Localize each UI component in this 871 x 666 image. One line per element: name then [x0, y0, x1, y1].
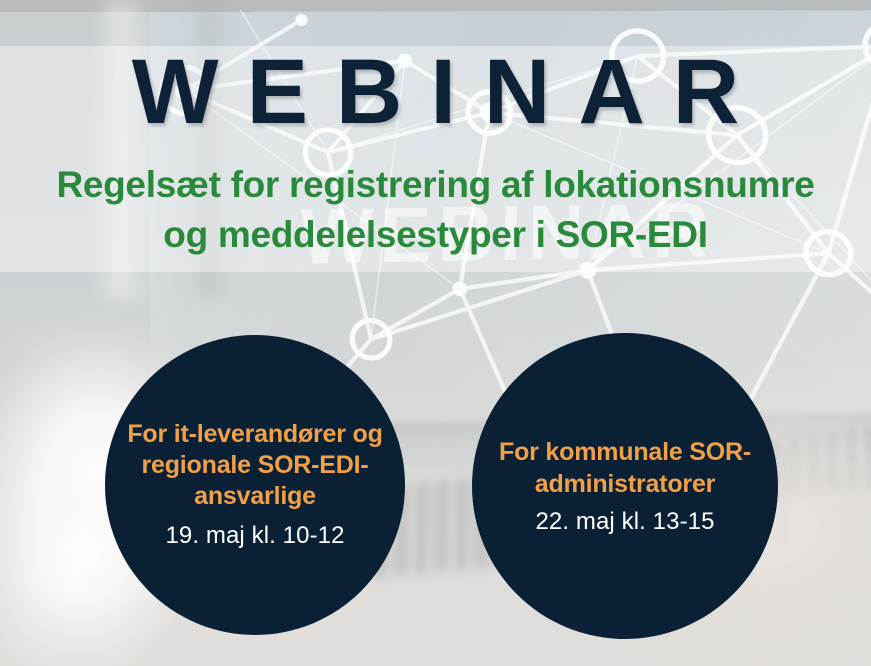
session-heading: For it-leverandører og regionale SOR-EDI… [123, 419, 387, 512]
session-date: 19. maj kl. 10-12 [165, 521, 344, 551]
session-heading: For kommunale SOR-administratorer [494, 436, 756, 500]
subtitle-line-2: og meddelelsestyper i SOR-EDI [0, 210, 871, 260]
subtitle: Regelsæt for registrering af lokationsnu… [0, 160, 871, 260]
session-date: 22. maj kl. 13-15 [535, 507, 714, 537]
session-circle-municipal-admins: For kommunale SOR-administratorer 22. ma… [472, 333, 778, 639]
session-circle-it-suppliers: For it-leverandører og regionale SOR-EDI… [105, 335, 405, 635]
webinar-poster: WEBINAR WEBINAR Regelsæt for registrerin… [0, 0, 871, 666]
subtitle-line-1: Regelsæt for registrering af lokationsnu… [0, 160, 871, 210]
page-title: WEBINAR [0, 46, 871, 138]
